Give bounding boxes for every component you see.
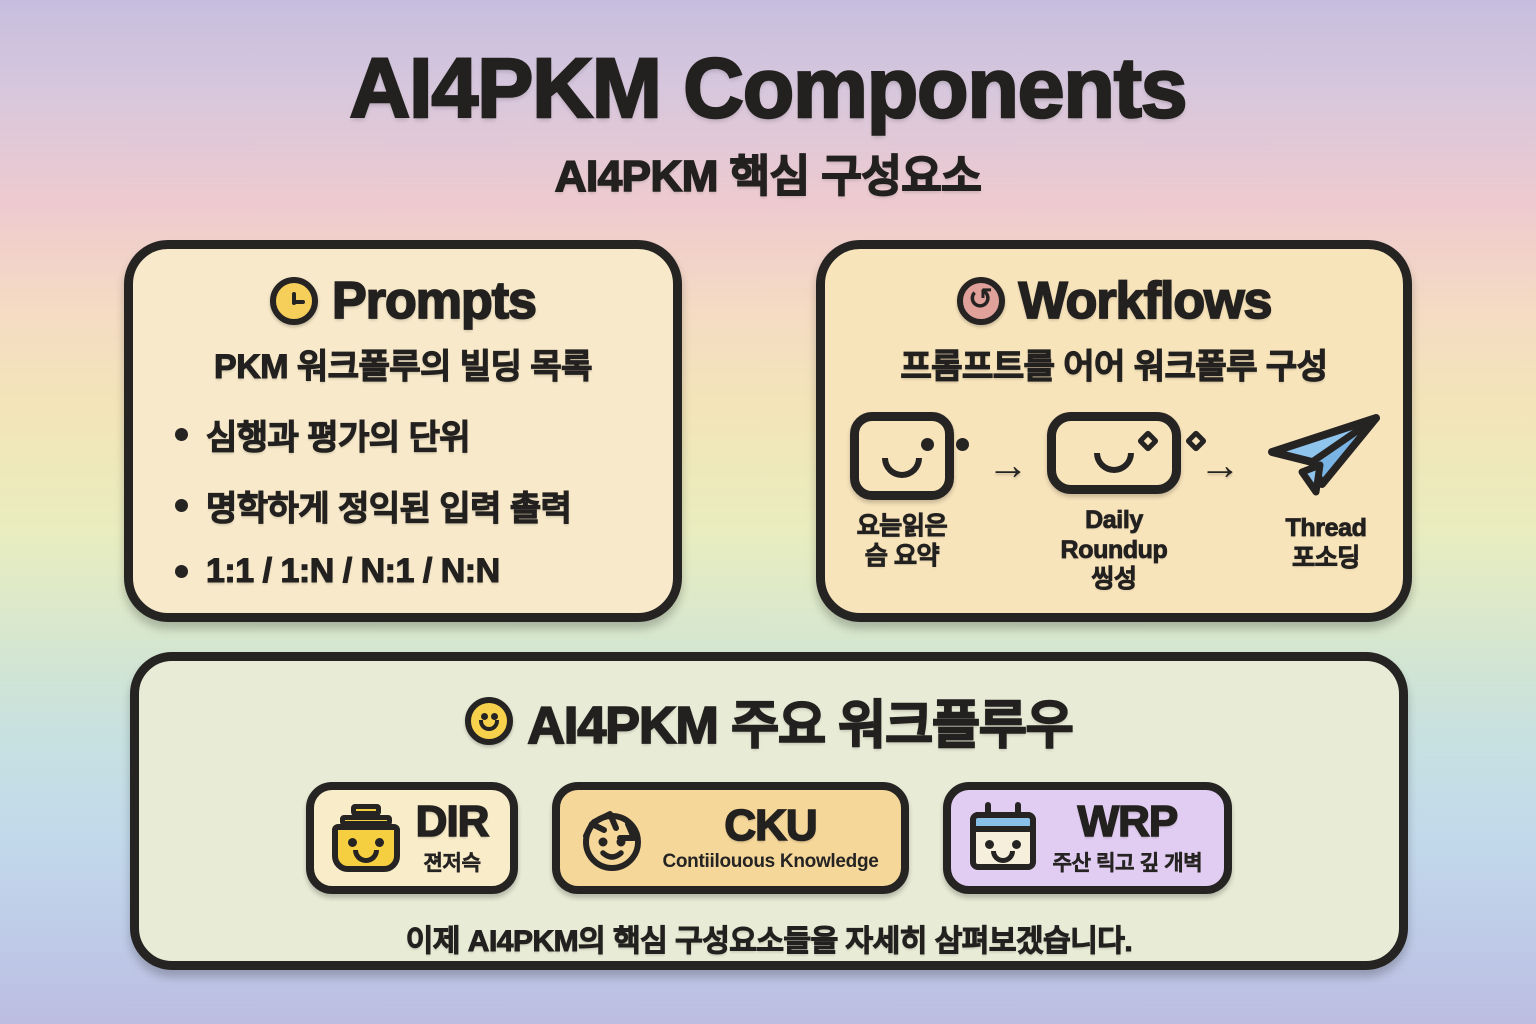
paper-plane-icon <box>1264 412 1388 502</box>
sparkle-face-box-icon <box>1047 412 1181 494</box>
recycle-face-icon <box>576 802 648 874</box>
workflow-flow-diagram: 요늗읽은 슴 요약 → Daily Roundup 씽성 → <box>825 412 1403 595</box>
paper-plane-wrap <box>1251 412 1401 502</box>
flow-node-3-label: Thread 포소딩 <box>1251 514 1401 573</box>
smiley-icon <box>465 697 513 745</box>
badge-cku-sub: Contiilouous Knowledge <box>662 851 878 873</box>
flow-node-3[interactable]: Thread 포소딩 <box>1251 412 1401 573</box>
badge-wrp[interactable]: WRP 주산 릭고 깊 개벽 <box>943 782 1233 894</box>
badge-cku[interactable]: CKU Contiilouous Knowledge <box>552 782 908 894</box>
prompts-bullet-list: 심행과 평가의 단위 명학하게 정익된 입력 촐력 1:1 / 1:N / N:… <box>175 410 673 591</box>
list-item: 1:1 / 1:N / N:1 / N:N <box>175 552 673 591</box>
badge-row: DIR 젼저슥 C <box>139 782 1399 894</box>
flow-arrow-1: → <box>987 444 1029 486</box>
clock-hands <box>276 283 312 319</box>
badge-dir[interactable]: DIR 젼저슥 <box>306 782 519 894</box>
card-main-workflows[interactable]: AI4PKM 주요 워크플루우 DIR 젼저슥 <box>130 652 1408 970</box>
refresh-glyph: ↺ <box>968 285 993 315</box>
flow-node-2-label: Daily Roundup 씽성 <box>1039 506 1189 595</box>
bullet-dot-icon <box>175 565 188 578</box>
bottom-card-header: AI4PKM 주요 워크플루우 <box>139 683 1399 758</box>
badge-wrp-sub: 주산 릭고 깊 개벽 <box>1053 847 1203 877</box>
card-prompts[interactable]: Prompts PKM 워크폴루의 빌딩 목록 심행과 평가의 단위 명학하게 … <box>124 240 682 622</box>
badge-dir-texts: DIR 젼저슥 <box>416 799 489 876</box>
prompts-card-title: Prompts <box>332 271 536 331</box>
bullet-label: 심행과 평가의 단위 <box>206 410 470 459</box>
bullet-dot-icon <box>175 428 188 441</box>
badge-dir-sub: 젼저슥 <box>424 847 481 877</box>
bullet-label: 명학하게 정익된 입력 촐력 <box>206 481 571 530</box>
workflows-card-title: Workflows <box>1019 271 1272 331</box>
header: AI4PKM Components AI4PKM 핵심 구성요소 <box>0 0 1536 204</box>
prompts-card-caption: PKM 워크폴루의 빌딩 목록 <box>133 339 673 388</box>
page-title: AI4PKM Components <box>0 44 1536 132</box>
badge-wrp-texts: WRP 주산 릭고 깊 개벽 <box>1053 799 1203 876</box>
badge-cku-texts: CKU Contiilouous Knowledge <box>662 803 878 872</box>
workflows-card-caption: 프롬프트를 어어 워크폴루 구성 <box>825 339 1403 388</box>
bullet-dot-icon <box>175 499 188 512</box>
page-subtitle: AI4PKM 핵심 구성요소 <box>0 140 1536 204</box>
poster-root: AI4PKM Components AI4PKM 핵심 구성요소 Prompts… <box>0 0 1536 1024</box>
flow-node-2[interactable]: Daily Roundup 씽성 <box>1039 412 1189 595</box>
bottom-footer-text: 이제 AI4PKM의 핵심 구성요소들을 자세히 삼펴보겠습니다. <box>139 916 1399 960</box>
card-workflows[interactable]: ↺ Workflows 프롬프트를 어어 워크폴루 구성 요늗읽은 슴 요약 → <box>816 240 1412 622</box>
face-box-icon <box>850 412 954 500</box>
badge-wrp-code: WRP <box>1078 799 1178 845</box>
face-eyes <box>902 421 988 491</box>
flow-node-1-label: 요늗읽은 슴 요약 <box>827 512 977 571</box>
lego-icon <box>330 802 402 874</box>
badge-dir-code: DIR <box>416 799 489 845</box>
prompts-card-header: Prompts <box>133 271 673 331</box>
calendar-icon <box>967 802 1039 874</box>
list-item: 심행과 평가의 단위 <box>175 410 673 459</box>
badge-cku-code: CKU <box>724 803 816 849</box>
list-item: 명학하게 정익된 입력 촐력 <box>175 481 673 530</box>
bullet-label: 1:1 / 1:N / N:1 / N:N <box>206 552 500 591</box>
bottom-card-title: AI4PKM 주요 워크플루우 <box>527 683 1072 758</box>
clock-icon <box>270 277 318 325</box>
flow-node-1[interactable]: 요늗읽은 슴 요약 <box>827 412 977 571</box>
refresh-icon: ↺ <box>957 277 1005 325</box>
workflows-card-header: ↺ Workflows <box>825 271 1403 331</box>
